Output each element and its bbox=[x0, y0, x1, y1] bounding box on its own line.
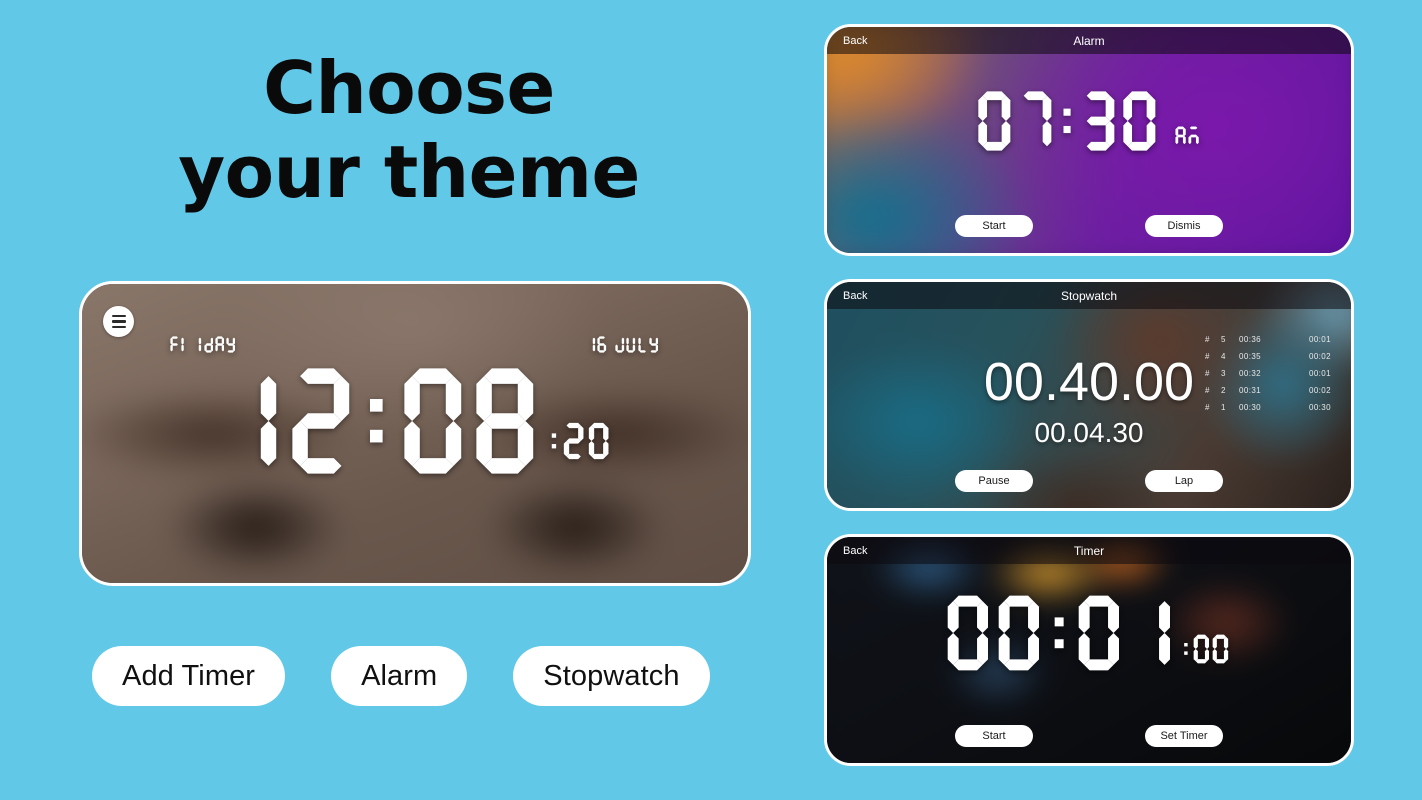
timer-start-button[interactable]: Start bbox=[955, 725, 1033, 747]
table-row: # 4 00:35 00:02 bbox=[1205, 348, 1337, 365]
lap-duration: 00:01 bbox=[1285, 369, 1331, 378]
menu-bar-1 bbox=[112, 315, 126, 318]
alarm-button-row: Start Dismis bbox=[827, 215, 1351, 237]
lap-duration: 00:02 bbox=[1285, 352, 1331, 361]
clock-time-row bbox=[82, 366, 748, 476]
lap-hash: # bbox=[1205, 386, 1221, 395]
timer-title: Timer bbox=[827, 544, 1351, 558]
alarm-time-row bbox=[827, 90, 1351, 152]
alarm-meridiem bbox=[1175, 126, 1201, 146]
stopwatch-title: Stopwatch bbox=[827, 289, 1351, 303]
headline-line-2: your theme bbox=[0, 130, 818, 214]
lap-duration: 00:30 bbox=[1285, 403, 1331, 412]
lap-duration: 00:02 bbox=[1285, 386, 1331, 395]
lap-split: 00:31 bbox=[1239, 386, 1285, 395]
stopwatch-back-button[interactable]: Back bbox=[843, 290, 867, 302]
clock-weekday bbox=[170, 336, 237, 353]
add-timer-button[interactable]: Add Timer bbox=[92, 646, 285, 706]
stopwatch-button[interactable]: Stopwatch bbox=[513, 646, 709, 706]
alarm-separator bbox=[1059, 90, 1081, 152]
timer-minutes bbox=[1077, 594, 1180, 672]
alarm-header: Back Alarm bbox=[827, 27, 1351, 54]
table-row: # 2 00:31 00:02 bbox=[1205, 382, 1337, 399]
clock-hours bbox=[217, 366, 362, 476]
headline-line-1: Choose bbox=[0, 46, 818, 130]
main-clock-preview-card[interactable] bbox=[79, 281, 751, 586]
alarm-body: Start Dismis bbox=[827, 54, 1351, 253]
clock-seconds bbox=[549, 422, 613, 460]
timer-button-row: Start Set Timer bbox=[827, 725, 1351, 747]
timer-back-button[interactable]: Back bbox=[843, 545, 867, 557]
screen-previews-panel: Back Alarm Start Dismis Back Stopwatch 0… bbox=[820, 0, 1422, 800]
lap-index: 5 bbox=[1221, 335, 1239, 344]
stopwatch-lap-list: # 5 00:36 00:01 # 4 00:35 00:02 # 3 00:3… bbox=[1205, 331, 1337, 416]
lap-hash: # bbox=[1205, 335, 1221, 344]
stopwatch-body: 00.40.00 00.04.30 # 5 00:36 00:01 # 4 00… bbox=[827, 309, 1351, 508]
lap-index: 1 bbox=[1221, 403, 1239, 412]
lap-duration: 00:01 bbox=[1285, 335, 1331, 344]
stopwatch-button-row: Pause Lap bbox=[827, 470, 1351, 492]
clock-date-row bbox=[82, 336, 748, 353]
menu-bar-2 bbox=[112, 320, 126, 323]
timer-time-row bbox=[827, 594, 1351, 672]
table-row: # 1 00:30 00:30 bbox=[1205, 399, 1337, 416]
clock-minutes bbox=[402, 366, 547, 476]
stopwatch-lap-time: 00.04.30 bbox=[827, 417, 1351, 449]
table-row: # 5 00:36 00:01 bbox=[1205, 331, 1337, 348]
timer-header: Back Timer bbox=[827, 537, 1351, 564]
alarm-title: Alarm bbox=[827, 34, 1351, 48]
timer-preview-card[interactable]: Back Timer Start Set Timer bbox=[824, 534, 1354, 766]
lap-hash: # bbox=[1205, 369, 1221, 378]
clock-date bbox=[586, 336, 660, 353]
clock-separator bbox=[362, 366, 402, 476]
timer-body: Start Set Timer bbox=[827, 564, 1351, 763]
action-button-row: Add Timer Alarm Stopwatch bbox=[0, 646, 818, 706]
page-title: Choose your theme bbox=[0, 46, 818, 214]
timer-set-button[interactable]: Set Timer bbox=[1145, 725, 1223, 747]
lap-split: 00:32 bbox=[1239, 369, 1285, 378]
alarm-preview-card[interactable]: Back Alarm Start Dismis bbox=[824, 24, 1354, 256]
stopwatch-pause-button[interactable]: Pause bbox=[955, 470, 1033, 492]
lap-index: 4 bbox=[1221, 352, 1239, 361]
stopwatch-preview-card[interactable]: Back Stopwatch 00.40.00 00.04.30 # 5 00:… bbox=[824, 279, 1354, 511]
lap-split: 00:36 bbox=[1239, 335, 1285, 344]
lap-index: 3 bbox=[1221, 369, 1239, 378]
alarm-minutes bbox=[1081, 90, 1163, 152]
menu-bar-3 bbox=[112, 326, 126, 329]
hamburger-menu-icon[interactable] bbox=[103, 306, 134, 337]
lap-hash: # bbox=[1205, 403, 1221, 412]
lap-hash: # bbox=[1205, 352, 1221, 361]
alarm-back-button[interactable]: Back bbox=[843, 35, 867, 47]
theme-preview-panel: Choose your theme Add Timer Alarm Stopwa… bbox=[0, 0, 820, 800]
table-row: # 3 00:32 00:01 bbox=[1205, 365, 1337, 382]
timer-seconds bbox=[1182, 634, 1232, 664]
alarm-hours bbox=[977, 90, 1059, 152]
timer-hours bbox=[946, 594, 1049, 672]
alarm-start-button[interactable]: Start bbox=[955, 215, 1033, 237]
lap-index: 2 bbox=[1221, 386, 1239, 395]
alarm-dismiss-button[interactable]: Dismis bbox=[1145, 215, 1223, 237]
lap-split: 00:30 bbox=[1239, 403, 1285, 412]
lap-split: 00:35 bbox=[1239, 352, 1285, 361]
stopwatch-lap-button[interactable]: Lap bbox=[1145, 470, 1223, 492]
alarm-button[interactable]: Alarm bbox=[331, 646, 467, 706]
timer-separator bbox=[1049, 594, 1077, 672]
stopwatch-header: Back Stopwatch bbox=[827, 282, 1351, 309]
